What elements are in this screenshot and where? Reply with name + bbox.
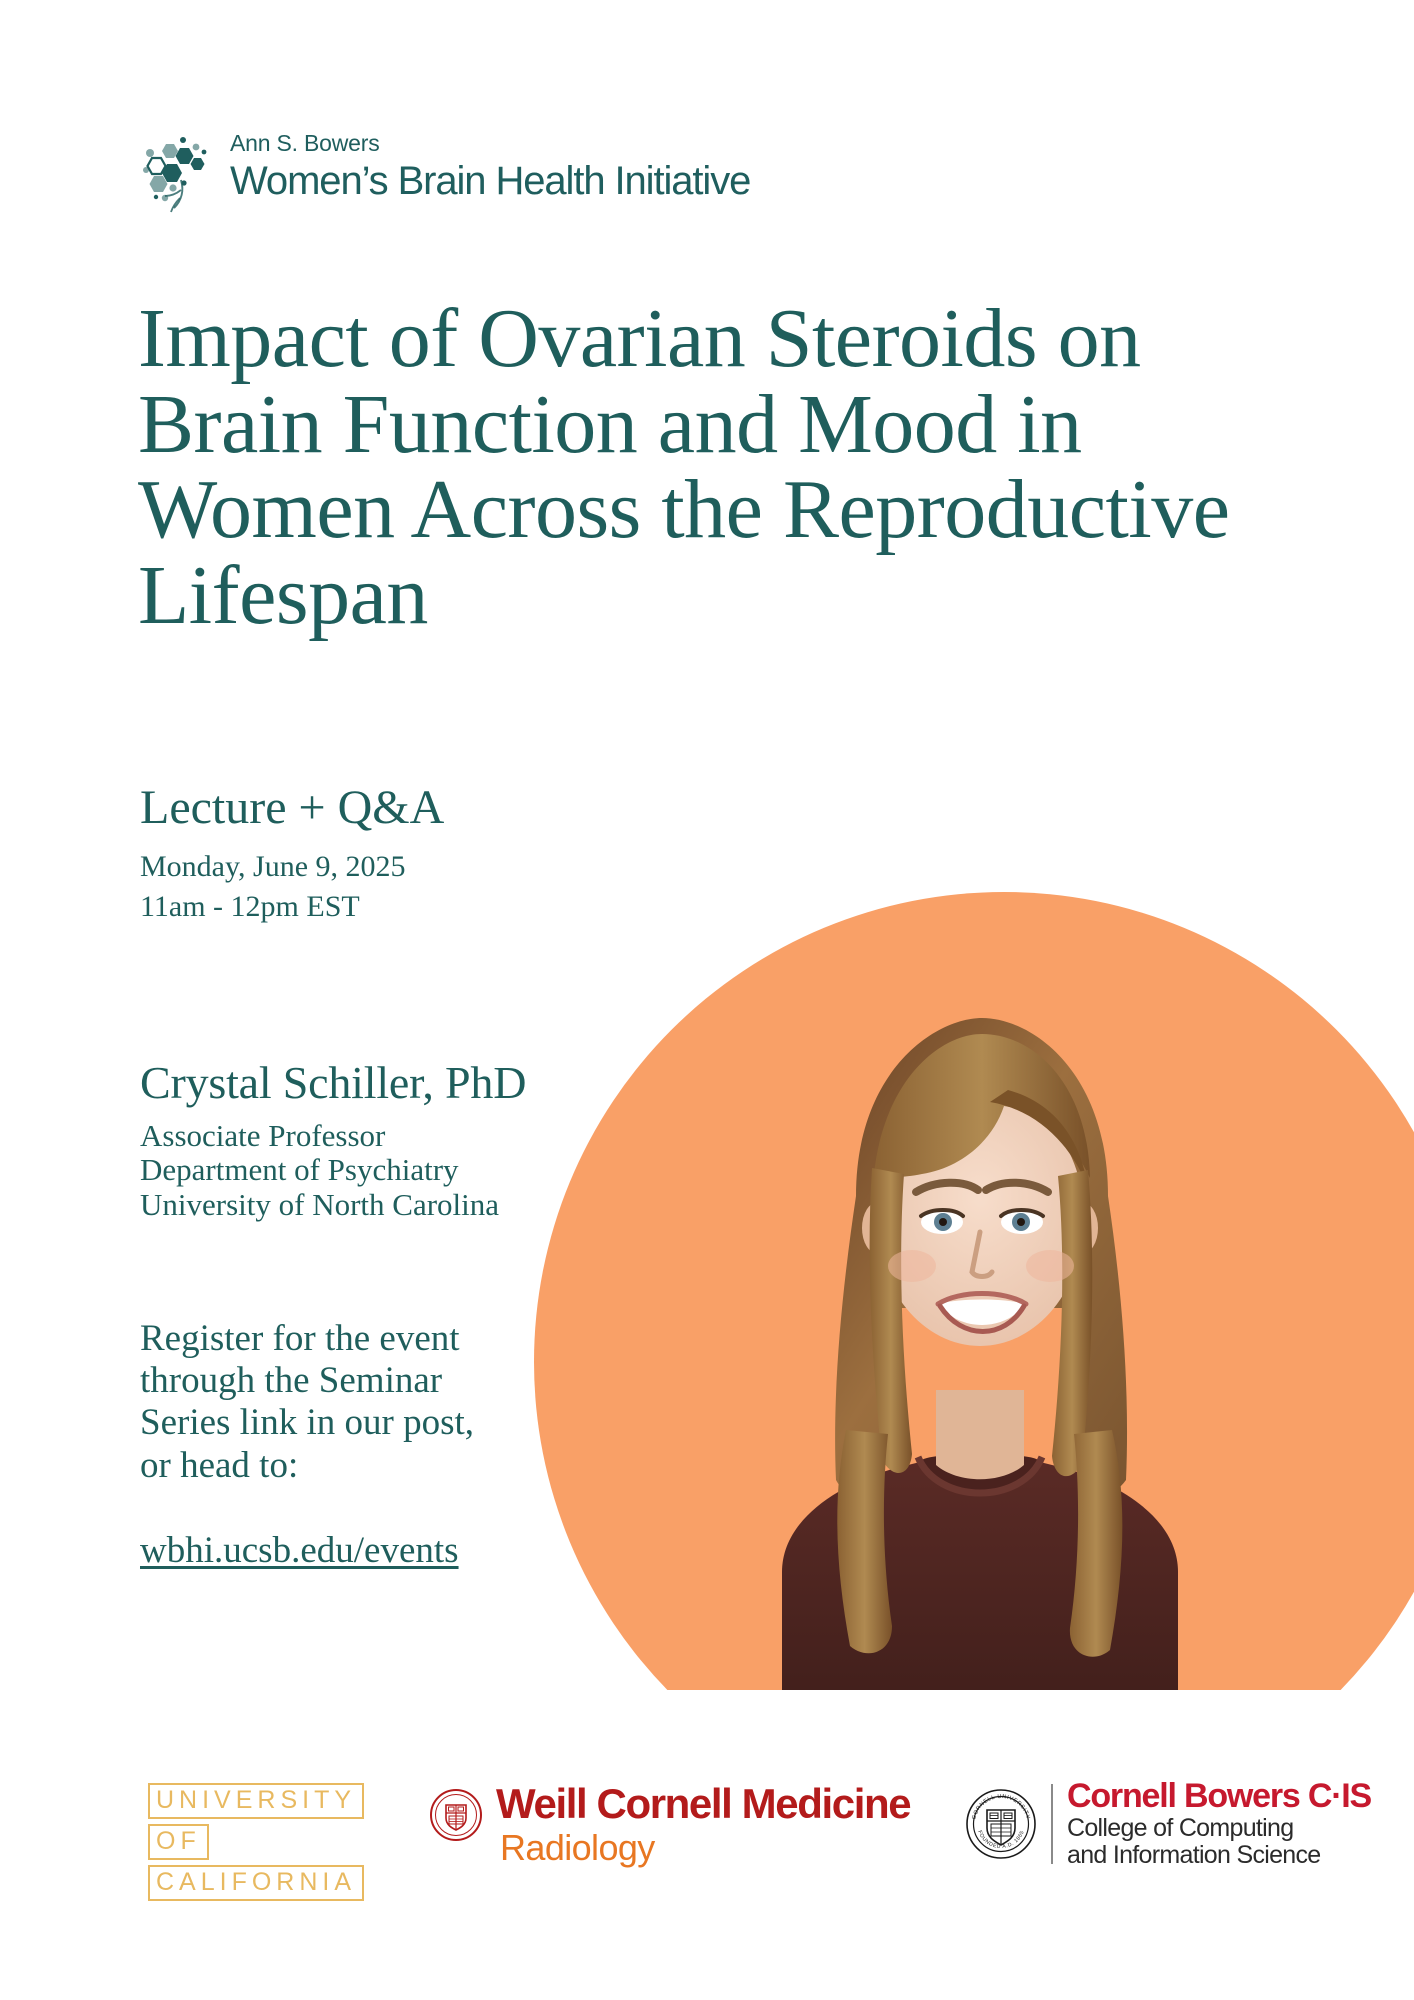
event-details: Lecture + Q&A Monday, June 9, 2025 11am … xyxy=(140,782,444,928)
weill-cornell-department: Radiology xyxy=(500,1828,910,1868)
wbhi-logo: Ann S. Bowers Women’s Brain Health Initi… xyxy=(140,132,750,214)
registration-block: Register for the event through the Semin… xyxy=(140,1318,560,1571)
brand-subtitle: Ann S. Bowers xyxy=(230,132,750,155)
event-poster: Ann S. Bowers Women’s Brain Health Initi… xyxy=(0,0,1414,2000)
uc-logo-line-1: UNIVERSITY xyxy=(148,1783,364,1819)
uc-logo-line-2: OF xyxy=(148,1824,209,1860)
university-of-california-logo: UNIVERSITY OF CALIFORNIA xyxy=(148,1783,364,1901)
speaker-institution: University of North Carolina xyxy=(140,1188,526,1223)
event-date: Monday, June 9, 2025 xyxy=(140,847,444,888)
speaker-title: Associate Professor xyxy=(140,1119,526,1154)
logo-divider xyxy=(1051,1784,1053,1864)
cornell-bowers-subtitle-2: and Information Science xyxy=(1067,1842,1371,1869)
speaker-department: Department of Psychiatry xyxy=(140,1153,526,1188)
brand-title: Women’s Brain Health Initiative xyxy=(230,161,750,201)
registration-link[interactable]: wbhi.ucsb.edu/events xyxy=(140,1531,459,1572)
registration-line-2: through the Seminar xyxy=(140,1360,560,1402)
weill-cornell-title: Weill Cornell Medicine xyxy=(496,1783,910,1826)
registration-line-3: Series link in our post, xyxy=(140,1402,560,1444)
sponsor-logos: UNIVERSITY OF CALIFORNIA Weill Cornell M… xyxy=(0,1775,1414,1925)
weill-cornell-seal-icon xyxy=(430,1789,482,1841)
registration-line-4: or head to: xyxy=(140,1445,560,1487)
event-time: 11am - 12pm EST xyxy=(140,887,444,928)
page-title: Impact of Ovarian Steroids on Brain Func… xyxy=(138,296,1268,639)
registration-line-1: Register for the event xyxy=(140,1318,560,1360)
cornell-bowers-cis-logo: CORNELL UNIVERSITY FOUNDED A.D. 1865 xyxy=(965,1779,1371,1869)
cornell-bowers-subtitle-1: College of Computing xyxy=(1067,1815,1371,1842)
weill-cornell-medicine-logo: Weill Cornell Medicine Radiology xyxy=(430,1783,910,1867)
event-type-heading: Lecture + Q&A xyxy=(140,782,444,835)
speaker-info: Crystal Schiller, PhD Associate Professo… xyxy=(140,1058,526,1223)
speaker-name: Crystal Schiller, PhD xyxy=(140,1058,526,1109)
cornell-university-seal-icon: CORNELL UNIVERSITY FOUNDED A.D. 1865 xyxy=(965,1788,1037,1860)
molecule-cluster-icon xyxy=(140,136,214,214)
cornell-bowers-title: Cornell Bowers C·IS xyxy=(1067,1779,1371,1815)
speaker-portrait xyxy=(660,960,1300,1690)
uc-logo-line-3: CALIFORNIA xyxy=(148,1865,364,1901)
